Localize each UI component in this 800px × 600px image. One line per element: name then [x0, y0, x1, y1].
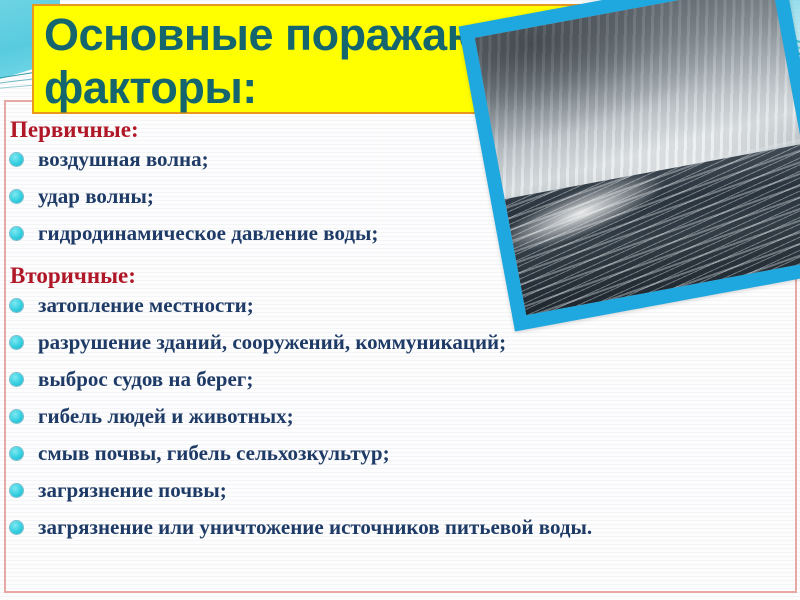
circle-bullet-icon: [10, 373, 23, 386]
secondary-section-heading: Вторичные:: [0, 264, 136, 287]
stormy-sea-photo: [459, 0, 800, 331]
list-item-label: гибель людей и животных;: [38, 404, 294, 428]
list-item-label: загрязнение почвы;: [38, 478, 227, 502]
list-item-label: разрушение зданий, сооружений, коммуника…: [38, 330, 506, 354]
list-item: смыв почвы, гибель сельхозкультур;: [0, 440, 780, 466]
circle-bullet-icon: [10, 227, 23, 240]
circle-bullet-icon: [10, 336, 23, 349]
circle-bullet-icon: [10, 521, 23, 534]
list-item: разрушение зданий, сооружений, коммуника…: [0, 329, 780, 355]
circle-bullet-icon: [10, 484, 23, 497]
list-item: загрязнение почвы;: [0, 477, 780, 503]
list-item: загрязнение или уничтожение источников п…: [0, 514, 780, 540]
list-item-label: гидродинамическое давление воды;: [38, 221, 378, 245]
list-item-label: удар волны;: [38, 184, 154, 208]
photo-image: [475, 0, 800, 315]
list-item-label: смыв почвы, гибель сельхозкультур;: [38, 441, 390, 465]
circle-bullet-icon: [10, 410, 23, 423]
circle-bullet-icon: [10, 447, 23, 460]
list-item: выброс судов на берег;: [0, 366, 780, 392]
list-item-label: затопление местности;: [38, 293, 254, 317]
primary-section-heading: Первичные:: [0, 118, 139, 141]
circle-bullet-icon: [10, 153, 23, 166]
list-item-label: воздушная волна;: [38, 147, 209, 171]
presentation-slide: Основные поражающие факторы: Первичные: …: [0, 0, 800, 600]
secondary-factors-list: затопление местности; разрушение зданий,…: [0, 292, 780, 551]
list-item-label: загрязнение или уничтожение источников п…: [38, 515, 592, 539]
list-item: гибель людей и животных;: [0, 403, 780, 429]
circle-bullet-icon: [10, 299, 23, 312]
list-item-label: выброс судов на берег;: [38, 367, 253, 391]
circle-bullet-icon: [10, 190, 23, 203]
